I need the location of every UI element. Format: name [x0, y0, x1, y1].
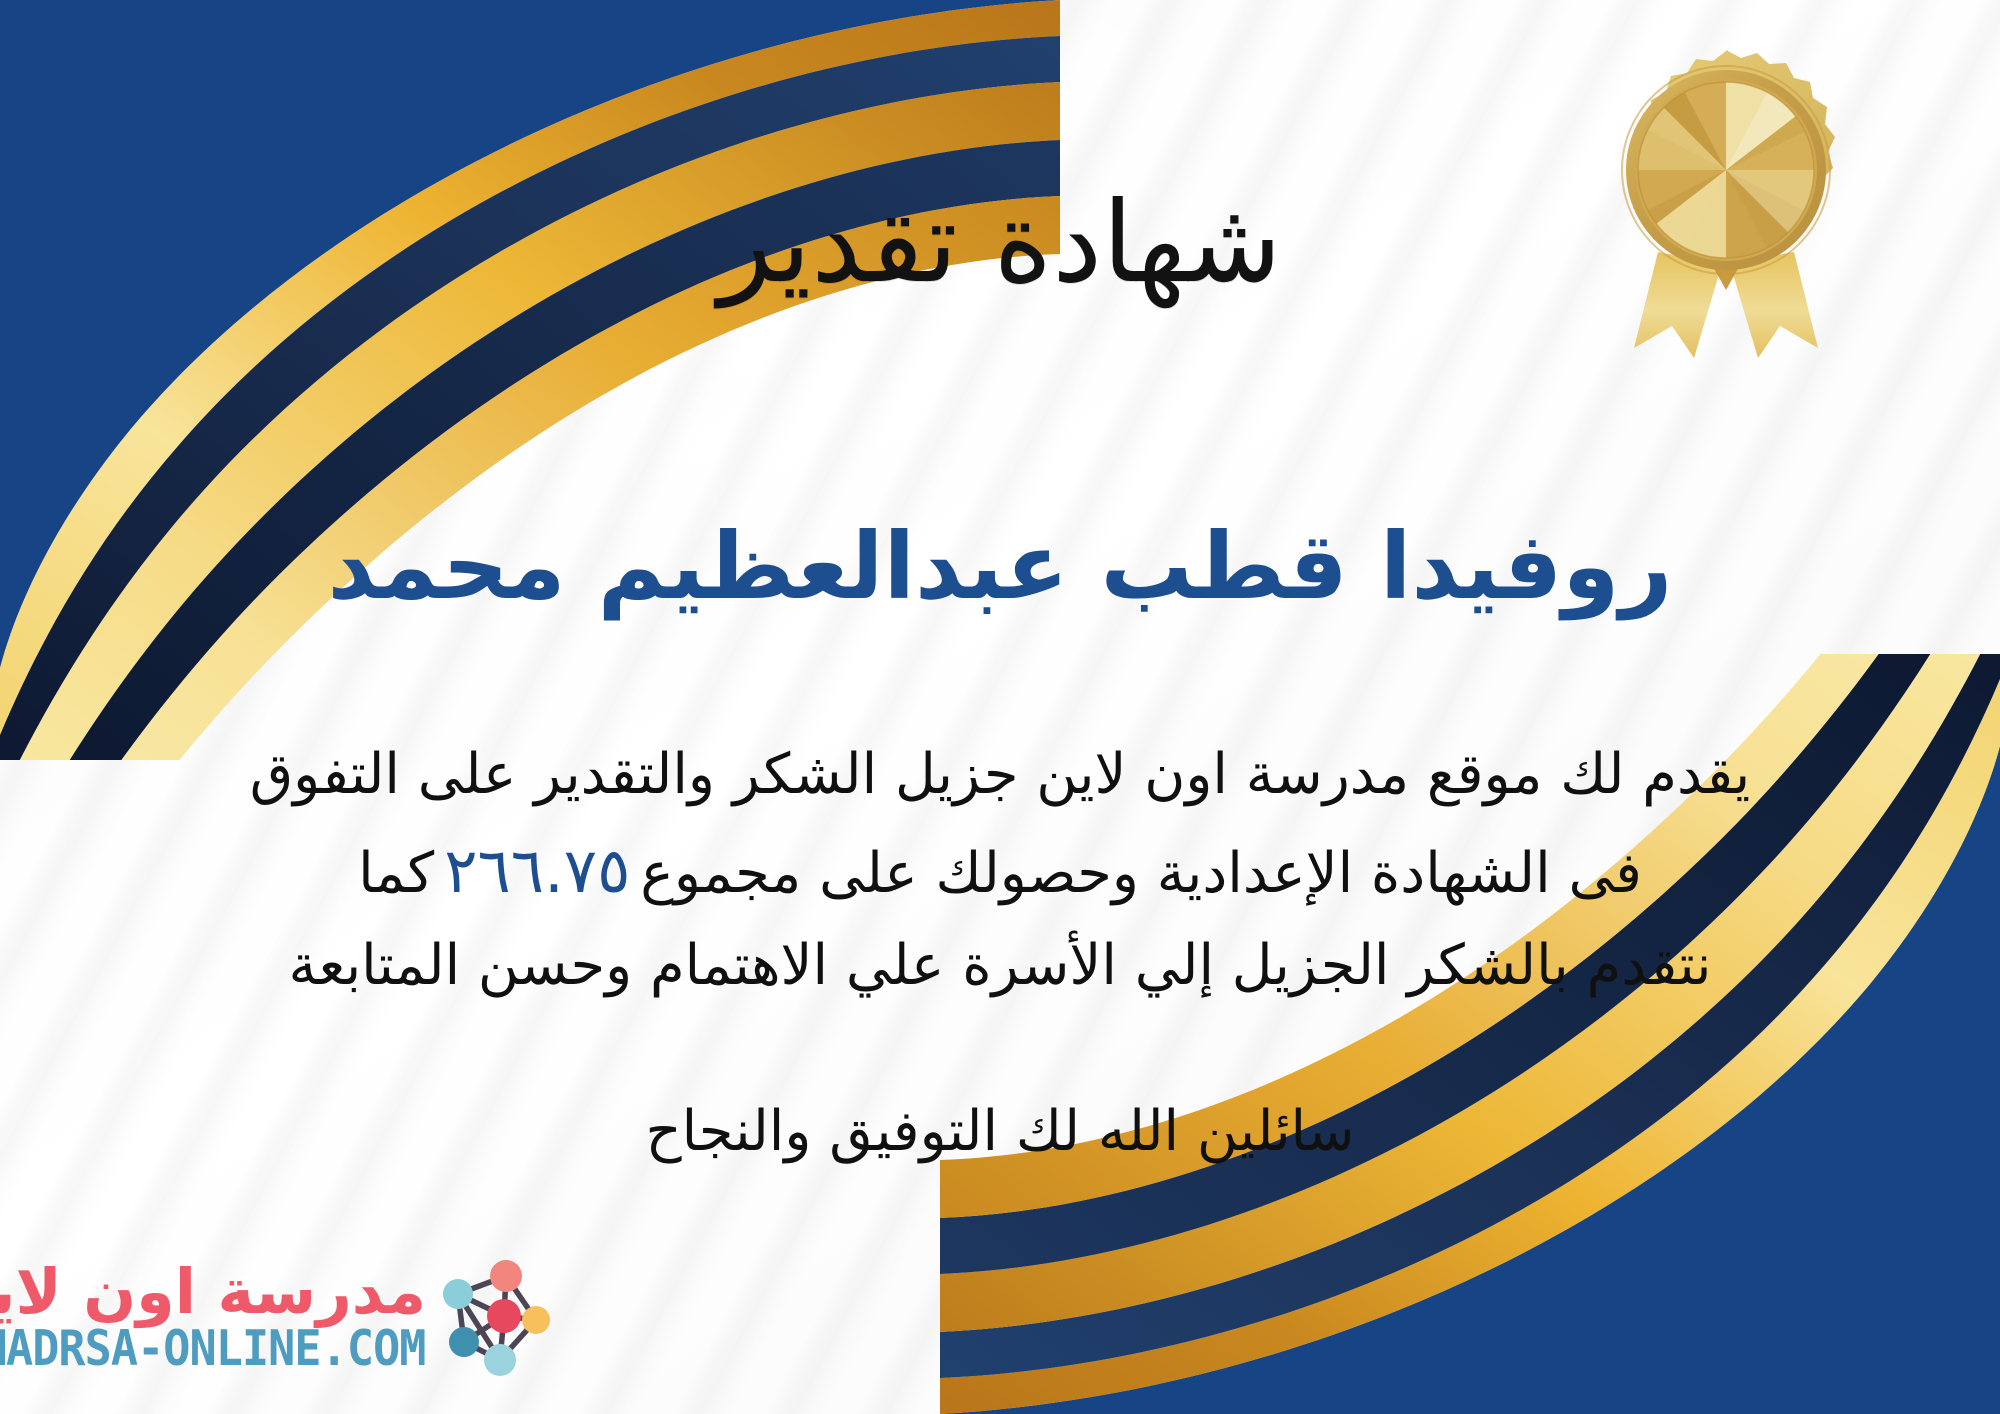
student-name: روفيدا قطب عبدالعظيم محمد — [0, 512, 2000, 622]
network-nodes-icon — [434, 1254, 554, 1380]
body-line-3: نتقدم بالشكر الجزيل إلي الأسرة علي الاهت… — [70, 921, 1930, 1012]
logo-website-url: MADRSA-ONLINE.COM — [0, 1323, 426, 1374]
node-red — [487, 1299, 521, 1333]
node-sky — [484, 1344, 516, 1376]
node-dark-teal — [449, 1327, 479, 1357]
total-score-value: ٢٦٦.٧٥ — [434, 834, 640, 907]
logo-wordmark: مدرسة اون لاين MADRSA-ONLINE.COM — [26, 1260, 426, 1375]
body-line-2-prefix: فى الشهادة الإعدادية وحصولك على مجموع — [640, 841, 1642, 906]
body-line-2-suffix: كما — [358, 841, 434, 906]
node-light-teal — [443, 1279, 473, 1309]
closing-wish: سائلين الله لك التوفيق والنجاح — [0, 1090, 2000, 1174]
site-logo[interactable]: مدرسة اون لاين MADRSA-ONLINE.COM — [26, 1242, 566, 1392]
certificate-title: شهادة تقدير — [0, 179, 2000, 308]
logo-arabic-name: مدرسة اون لاين — [0, 1260, 426, 1323]
certificate-content: شهادة تقدير روفيدا قطب عبدالعظيم محمد يق… — [0, 0, 2000, 1414]
body-line-1: يقدم لك موقع مدرسة اون لاين جزيل الشكر و… — [70, 730, 1930, 821]
certificate-body: يقدم لك موقع مدرسة اون لاين جزيل الشكر و… — [70, 730, 1930, 1012]
node-coral — [490, 1260, 522, 1292]
body-line-2: فى الشهادة الإعدادية وحصولك على مجموع٢٦٦… — [70, 821, 1930, 921]
node-amber — [522, 1306, 550, 1334]
certificate-page: شهادة تقدير روفيدا قطب عبدالعظيم محمد يق… — [0, 0, 2000, 1414]
